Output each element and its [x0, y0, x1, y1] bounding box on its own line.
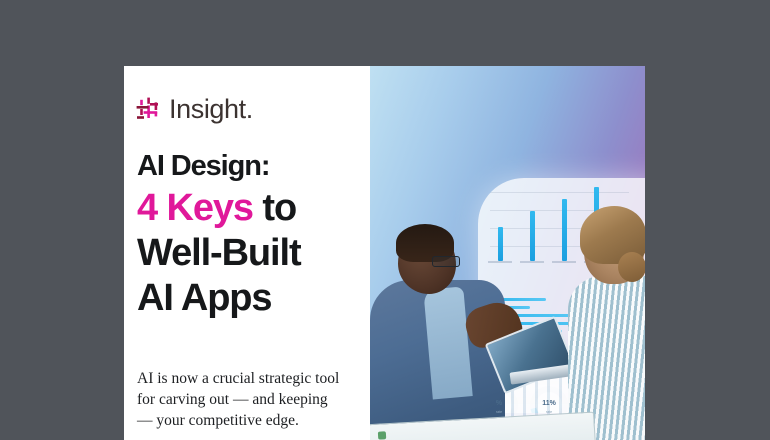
headline-line-2: Well-Built [137, 231, 385, 276]
cover-text-column: Insight. AI Design: 4 Keys to Well-Built… [124, 66, 386, 440]
deck-line-2: for carving out — and keeping [137, 389, 377, 410]
dashboard-gridline [490, 192, 629, 193]
screenshot-viewport: % rate 11% rate [0, 0, 770, 440]
donut-left-value: % [480, 400, 518, 407]
headline-line-1: 4 Keys to [137, 186, 385, 231]
headline-line-1-rest: to [253, 187, 296, 229]
bar-chart-bar [498, 227, 503, 261]
headline-eyebrow: AI Design: [137, 148, 385, 184]
bar-chart-axis-tick [488, 261, 512, 263]
cover-headline: AI Design: 4 Keys to Well-Built AI Apps [137, 148, 385, 321]
person-woman-bun [618, 252, 645, 282]
deck-line-1: AI is now a crucial strategic tool [137, 368, 377, 389]
donut-center-value: 11% [530, 400, 568, 407]
donut-center-sublabel: rate [530, 410, 568, 413]
deck-line-3: — your competitive edge. [137, 410, 377, 431]
cover-deck: AI is now a crucial strategic tool for c… [137, 368, 377, 431]
insight-logo-mark [136, 97, 162, 123]
insight-wordmark: Insight. [169, 96, 253, 123]
insight-logo: Insight. [136, 96, 253, 123]
bar-chart-axis-tick [520, 261, 544, 263]
cover-photograph: % rate 11% rate [370, 66, 645, 440]
headline-line-3: AI Apps [137, 276, 385, 321]
bar-chart-axis-tick [552, 261, 576, 263]
headline-accent-text: 4 Keys [137, 187, 253, 229]
bar-chart-bar [530, 211, 535, 261]
donut-left-sublabel: rate [480, 410, 518, 413]
eyeglasses [432, 256, 460, 267]
bar-chart-bar [562, 199, 567, 261]
flyer-page: % rate 11% rate [124, 66, 645, 440]
